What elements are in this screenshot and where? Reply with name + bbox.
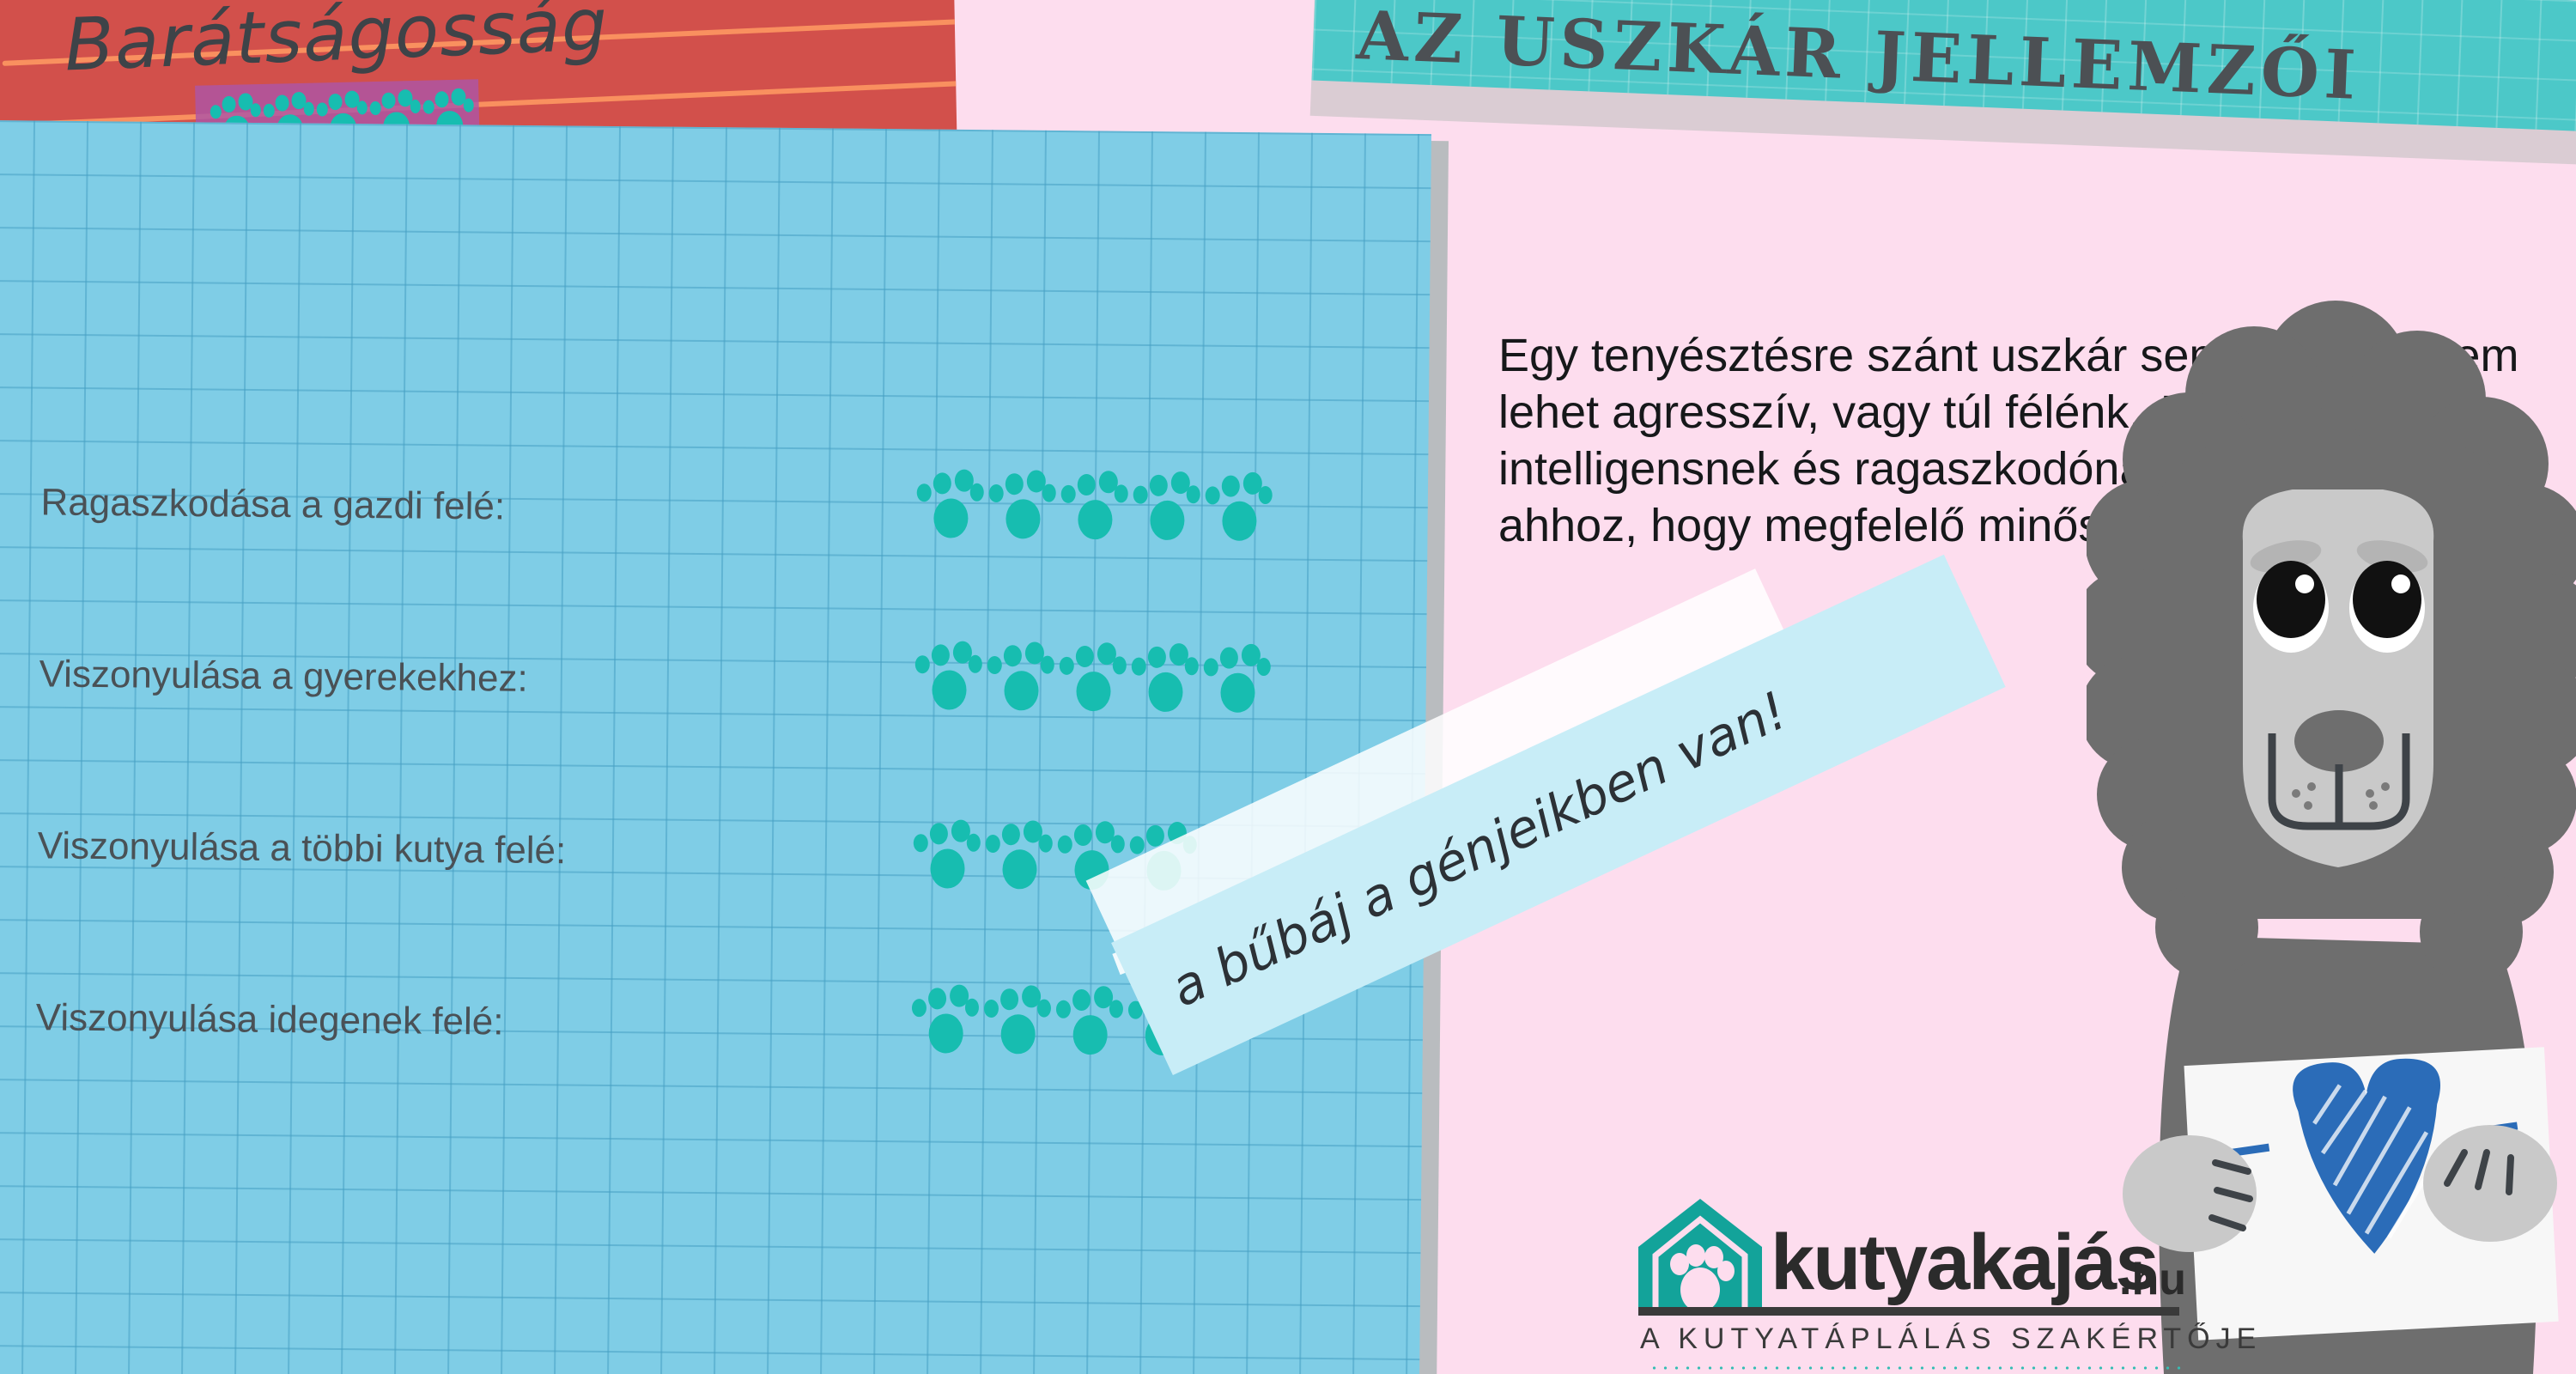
rating-paw-icon [1060, 471, 1128, 544]
paw-toe [1061, 485, 1076, 503]
logo-tagline: A KUTYATÁPLÁLÁS SZAKÉRTŐJE [1640, 1322, 2190, 1356]
paw-pad [1078, 500, 1112, 539]
paw-toe [1206, 486, 1220, 504]
paw-toe [1074, 824, 1092, 846]
paw-toe [1150, 475, 1168, 496]
logo-tld: .hu [2119, 1254, 2186, 1305]
paw-toe [967, 834, 981, 852]
paw-toe [222, 96, 236, 112]
paw-pad [1220, 673, 1255, 713]
rating-row: Ragaszkodása a gazdi felé: [39, 474, 1415, 659]
rating-label: Viszonyulása a többi kutya felé: [37, 818, 566, 872]
rating-paw-icon [983, 985, 1051, 1058]
rating-paw-score [916, 469, 1273, 544]
paw-toe [930, 823, 948, 844]
paw-toe [984, 1000, 999, 1018]
grid-line [2456, 0, 2463, 126]
poodle-nose [2294, 710, 2384, 772]
logo-wordmark: kutyakajás [1771, 1218, 2158, 1308]
paw-toe [1220, 647, 1238, 669]
paw-toe [932, 644, 950, 666]
paw-pad [1072, 1015, 1107, 1055]
paw-toe [987, 656, 1002, 674]
paw-toe [1115, 484, 1128, 502]
paw-toe [1078, 474, 1096, 495]
paw-toe [969, 655, 982, 673]
rating-paw-icon [988, 470, 1056, 543]
paw-toe [264, 104, 275, 118]
rating-paw-icon [1131, 643, 1199, 716]
paw-toe [1056, 1000, 1071, 1018]
paw-toe [1109, 1000, 1123, 1018]
paw-toe [933, 472, 951, 494]
paw-pad [930, 848, 964, 888]
paw-toe [1185, 657, 1199, 675]
paw-toe [1133, 486, 1148, 504]
grid-line [2535, 0, 2542, 130]
paw-toe [986, 835, 1000, 853]
paw-toe [1039, 835, 1053, 853]
rating-paw-icon [1203, 643, 1271, 716]
paw-toe [370, 101, 381, 115]
paw-toe [423, 100, 434, 113]
paw-pad [1222, 502, 1256, 541]
paw-toe [1257, 658, 1271, 676]
rating-paw-icon [1059, 642, 1127, 715]
rating-paw-icon [1205, 471, 1273, 544]
paw-toe [917, 483, 932, 502]
paw-toe [357, 100, 368, 114]
paw-toe [1037, 1000, 1051, 1018]
paw-toe [251, 103, 262, 117]
logo-dotted-rule [1649, 1365, 2181, 1371]
paw-toe [435, 91, 449, 107]
paw-toe [915, 655, 930, 673]
rating-paw-icon [914, 641, 982, 714]
paw-pad [1148, 672, 1182, 712]
paw-toe [1111, 835, 1125, 853]
rating-row: Viszonyulása a gyerekekhez: [38, 646, 1413, 830]
rating-paw-icon [987, 641, 1054, 714]
rating-paw-icon [1133, 471, 1200, 544]
paw-toe [1130, 836, 1145, 854]
paw-toe [1148, 647, 1166, 668]
rating-label: Ragaszkodása a gazdi felé: [40, 474, 505, 528]
paw-toe [1146, 825, 1164, 847]
paw-pad [928, 1013, 963, 1053]
doghouse-icon [1631, 1194, 1769, 1322]
paw-toe [304, 102, 315, 116]
rating-paw-icon [916, 469, 984, 542]
grid-line [2378, 0, 2385, 123]
paw-toe [1002, 824, 1020, 845]
grid-line [2417, 0, 2424, 125]
grid-line [2495, 0, 2502, 128]
paw-toe [1222, 476, 1240, 497]
paw-toe [1004, 645, 1022, 666]
paw-toe [970, 483, 984, 502]
rating-paw-icon [1055, 986, 1123, 1059]
paw-pad [1002, 849, 1036, 889]
paw-toe [914, 834, 928, 852]
paw-pad [933, 498, 968, 538]
paw-toe [210, 105, 222, 119]
paw-toe [1000, 988, 1018, 1010]
rating-paw-icon [985, 820, 1053, 893]
infographic-stage: Barátságosság AZ USZKÁR JELLEMZŐI Ragasz… [0, 0, 2576, 1374]
paw-pad [1004, 671, 1038, 710]
paw-pad [1076, 672, 1110, 711]
paw-toe [382, 93, 396, 109]
paw-toe [912, 999, 927, 1017]
paw-toe [1259, 486, 1273, 504]
paw-toe [928, 988, 946, 1009]
paw-toe [1058, 836, 1072, 854]
paw-toe [1204, 658, 1218, 676]
rating-paw-icon [913, 819, 981, 892]
rating-paw-icon [911, 984, 979, 1057]
rating-label: Viszonyulása idegenek felé: [36, 989, 504, 1043]
paw-toe [1042, 484, 1056, 502]
paw-toe [1076, 646, 1094, 667]
paw-toe [1187, 485, 1200, 503]
paw-toe [276, 94, 289, 111]
ruled-line [3, 81, 957, 128]
paw-toe [1132, 658, 1146, 676]
paw-toe [1005, 473, 1024, 495]
paw-toe [989, 484, 1004, 502]
brand-logo[interactable]: kutyakajás .hu A KUTYATÁPLÁLÁS SZAKÉRTŐJ… [1631, 1194, 2233, 1374]
paw-pad [1000, 1014, 1035, 1054]
paw-toe [1113, 656, 1127, 674]
paw-toe [1072, 989, 1091, 1011]
paw-pad [1150, 501, 1184, 540]
paw-toe [1041, 656, 1054, 674]
paw-toe [965, 999, 979, 1017]
rating-label: Viszonyulása a gyerekekhez: [39, 646, 528, 700]
logo-underline [1638, 1307, 2179, 1316]
paw-toe [1060, 657, 1074, 675]
poodle-paw-right [2423, 1125, 2557, 1242]
paw-toe [317, 102, 328, 116]
paw-pad [1005, 499, 1040, 538]
paw-toe [329, 94, 343, 110]
paw-toe [410, 100, 422, 113]
rating-paw-score [914, 641, 1271, 716]
paw-pad [932, 670, 966, 709]
